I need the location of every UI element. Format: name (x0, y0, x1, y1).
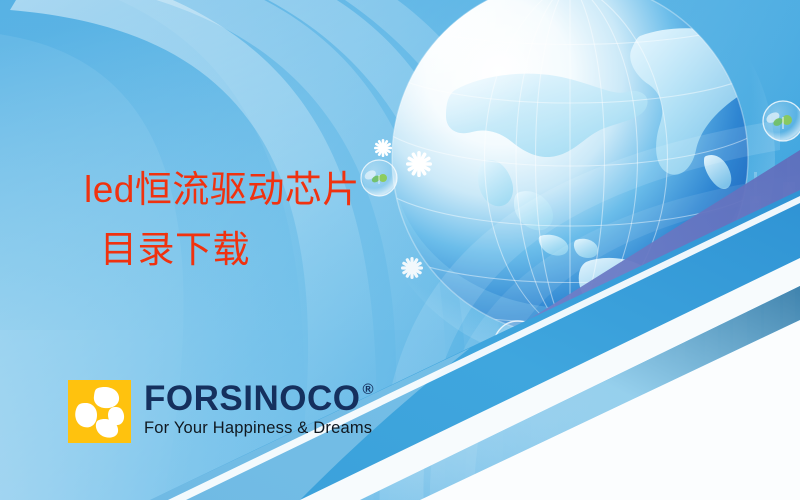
company-logo-lockup: FORSINOCO ® For Your Happiness & Dreams (68, 380, 374, 443)
four-petal-pinwheel-icon (68, 380, 131, 443)
registered-trademark-symbol: ® (362, 382, 374, 397)
brand-name: FORSINOCO ® (144, 380, 374, 417)
bubble-top-right (763, 101, 800, 141)
logo-text-block: FORSINOCO ® For Your Happiness & Dreams (144, 380, 374, 438)
bubble-mid-left (361, 160, 397, 196)
brand-name-text: FORSINOCO (144, 380, 360, 417)
brand-tagline: For Your Happiness & Dreams (144, 418, 374, 438)
banner-canvas: led恒流驱动芯片 目录下载 FORSINOCO ® (0, 0, 800, 500)
logo-mark-tile (68, 380, 131, 443)
